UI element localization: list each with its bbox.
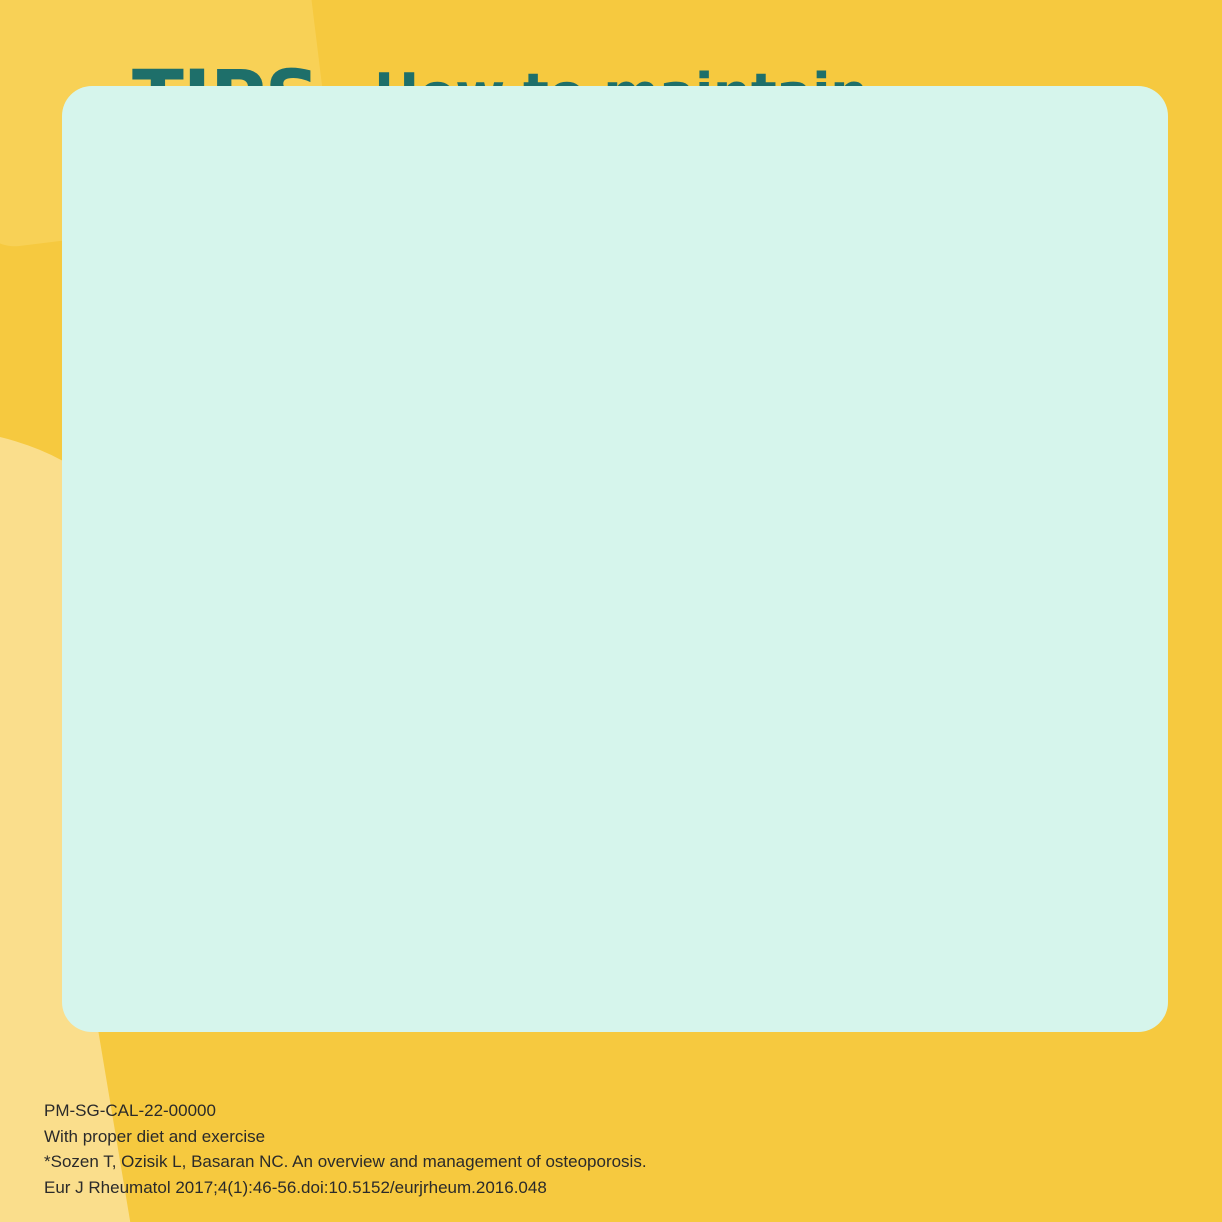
footer-disclaimer: With proper diet and exercise: [44, 1124, 647, 1150]
tips-card: [62, 86, 1168, 1032]
footer-citation-line-2: Eur J Rheumatol 2017;4(1):46-56.doi:10.5…: [44, 1175, 647, 1201]
footer-citation-line-1: *Sozen T, Ozisik L, Basaran NC. An overv…: [44, 1149, 647, 1175]
footer: PM-SG-CAL-22-00000 With proper diet and …: [44, 1098, 647, 1200]
footer-code: PM-SG-CAL-22-00000: [44, 1098, 647, 1124]
